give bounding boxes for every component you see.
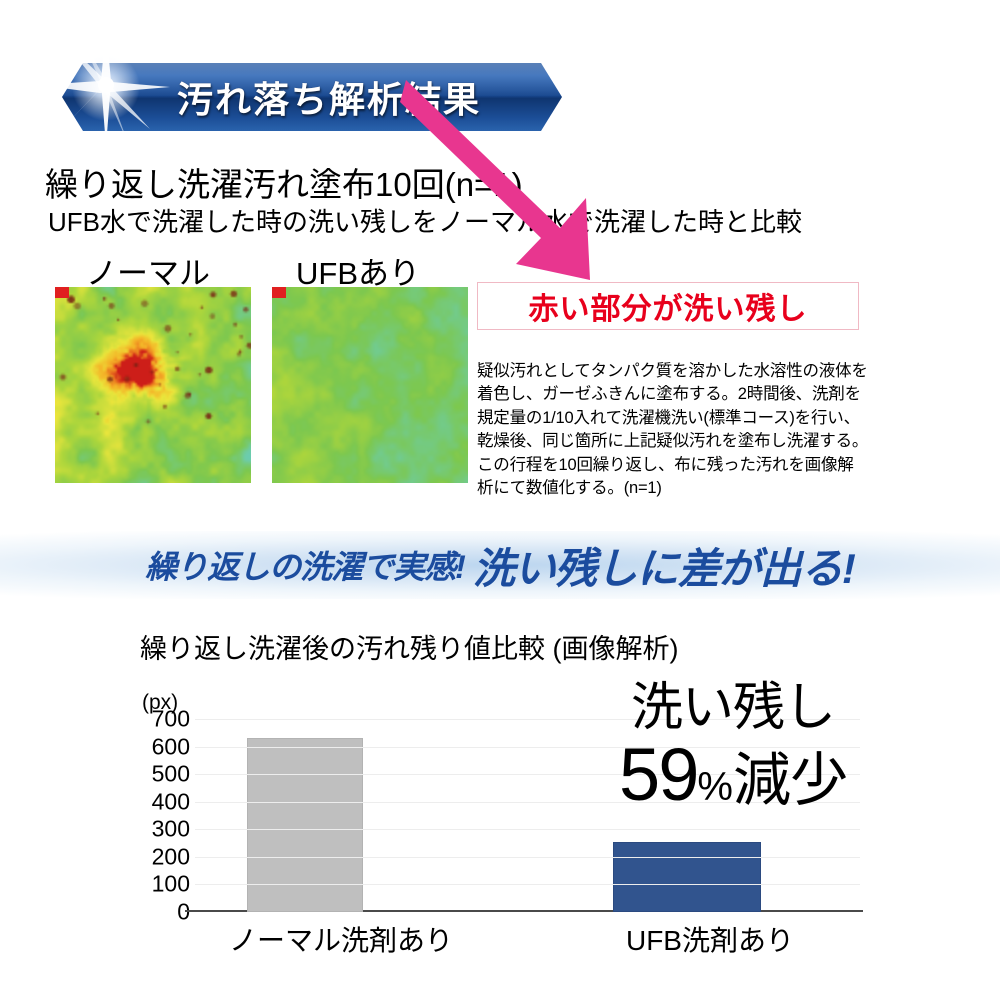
blue-headline-small: 繰り返しの洗濯で実感! [145,542,465,588]
y-axis-tick-labels: 7006005004003002001000 [140,719,190,912]
reduction-callout: 洗い残し 59 % 減少 [568,682,898,812]
reduction-percent-symbol: % [697,767,733,807]
page-title: 汚れ落ち解析結果 [62,63,562,131]
y-axis-tick-300: 300 [152,816,190,843]
intro-line-1: 繰り返し洗濯汚れ塗布10回(n=1) [45,158,523,206]
x-axis-category-label-1: UFB洗剤あり [560,919,860,959]
heatmap-corner-marker [272,287,286,298]
y-axis-tick-600: 600 [152,733,190,760]
y-axis-tick-100: 100 [152,871,190,898]
gridline [195,829,860,830]
reduction-callout-title: 洗い残し [568,682,898,734]
y-axis-tick-200: 200 [152,843,190,870]
header-banner: 汚れ落ち解析結果 [62,63,562,131]
y-axis-tick-500: 500 [152,761,190,788]
y-axis-tick-400: 400 [152,788,190,815]
x-axis-category-label-0: ノーマル洗剤あり [196,919,486,959]
heatmap-image-ufb [272,287,468,483]
red-area-callout-text: 赤い部分が洗い残し [529,284,808,328]
heatmap-canvas-normal [55,287,251,483]
intro-line-2: UFB水で洗濯した時の洗い残しをノーマル水で洗濯した時と比較 [48,202,802,239]
blue-headline-inner: 繰り返しの洗濯で実感! 洗い残しに差が出る! [0,531,1000,599]
heatmap-corner-marker [55,287,69,298]
blue-headline-band: 繰り返しの洗濯で実感! 洗い残しに差が出る! [0,531,1000,599]
reduction-callout-value: 59 % 減少 [568,738,898,812]
heatmap-canvas-ufb [272,287,468,483]
bar-normal [247,738,363,912]
reduction-number: 59 [619,738,697,812]
gridline [195,884,860,885]
reduction-suffix: 減少 [733,752,847,810]
gridline [195,857,860,858]
heatmap-image-normal [55,287,251,483]
blue-headline-large: 洗い残しに差が出る! [473,535,855,596]
red-area-callout-box: 赤い部分が洗い残し [477,282,859,330]
y-axis-tick-700: 700 [152,706,190,733]
bar-ufb [613,842,761,912]
y-axis-tick-0: 0 [177,899,190,926]
chart-title: 繰り返し洗濯後の汚れ残り値比較 (画像解析) [140,627,678,666]
method-description: 疑似汚れとしてタンパク質を溶かした水溶性の液体を着色し、ガーゼふきんに塗布する。… [477,360,869,501]
